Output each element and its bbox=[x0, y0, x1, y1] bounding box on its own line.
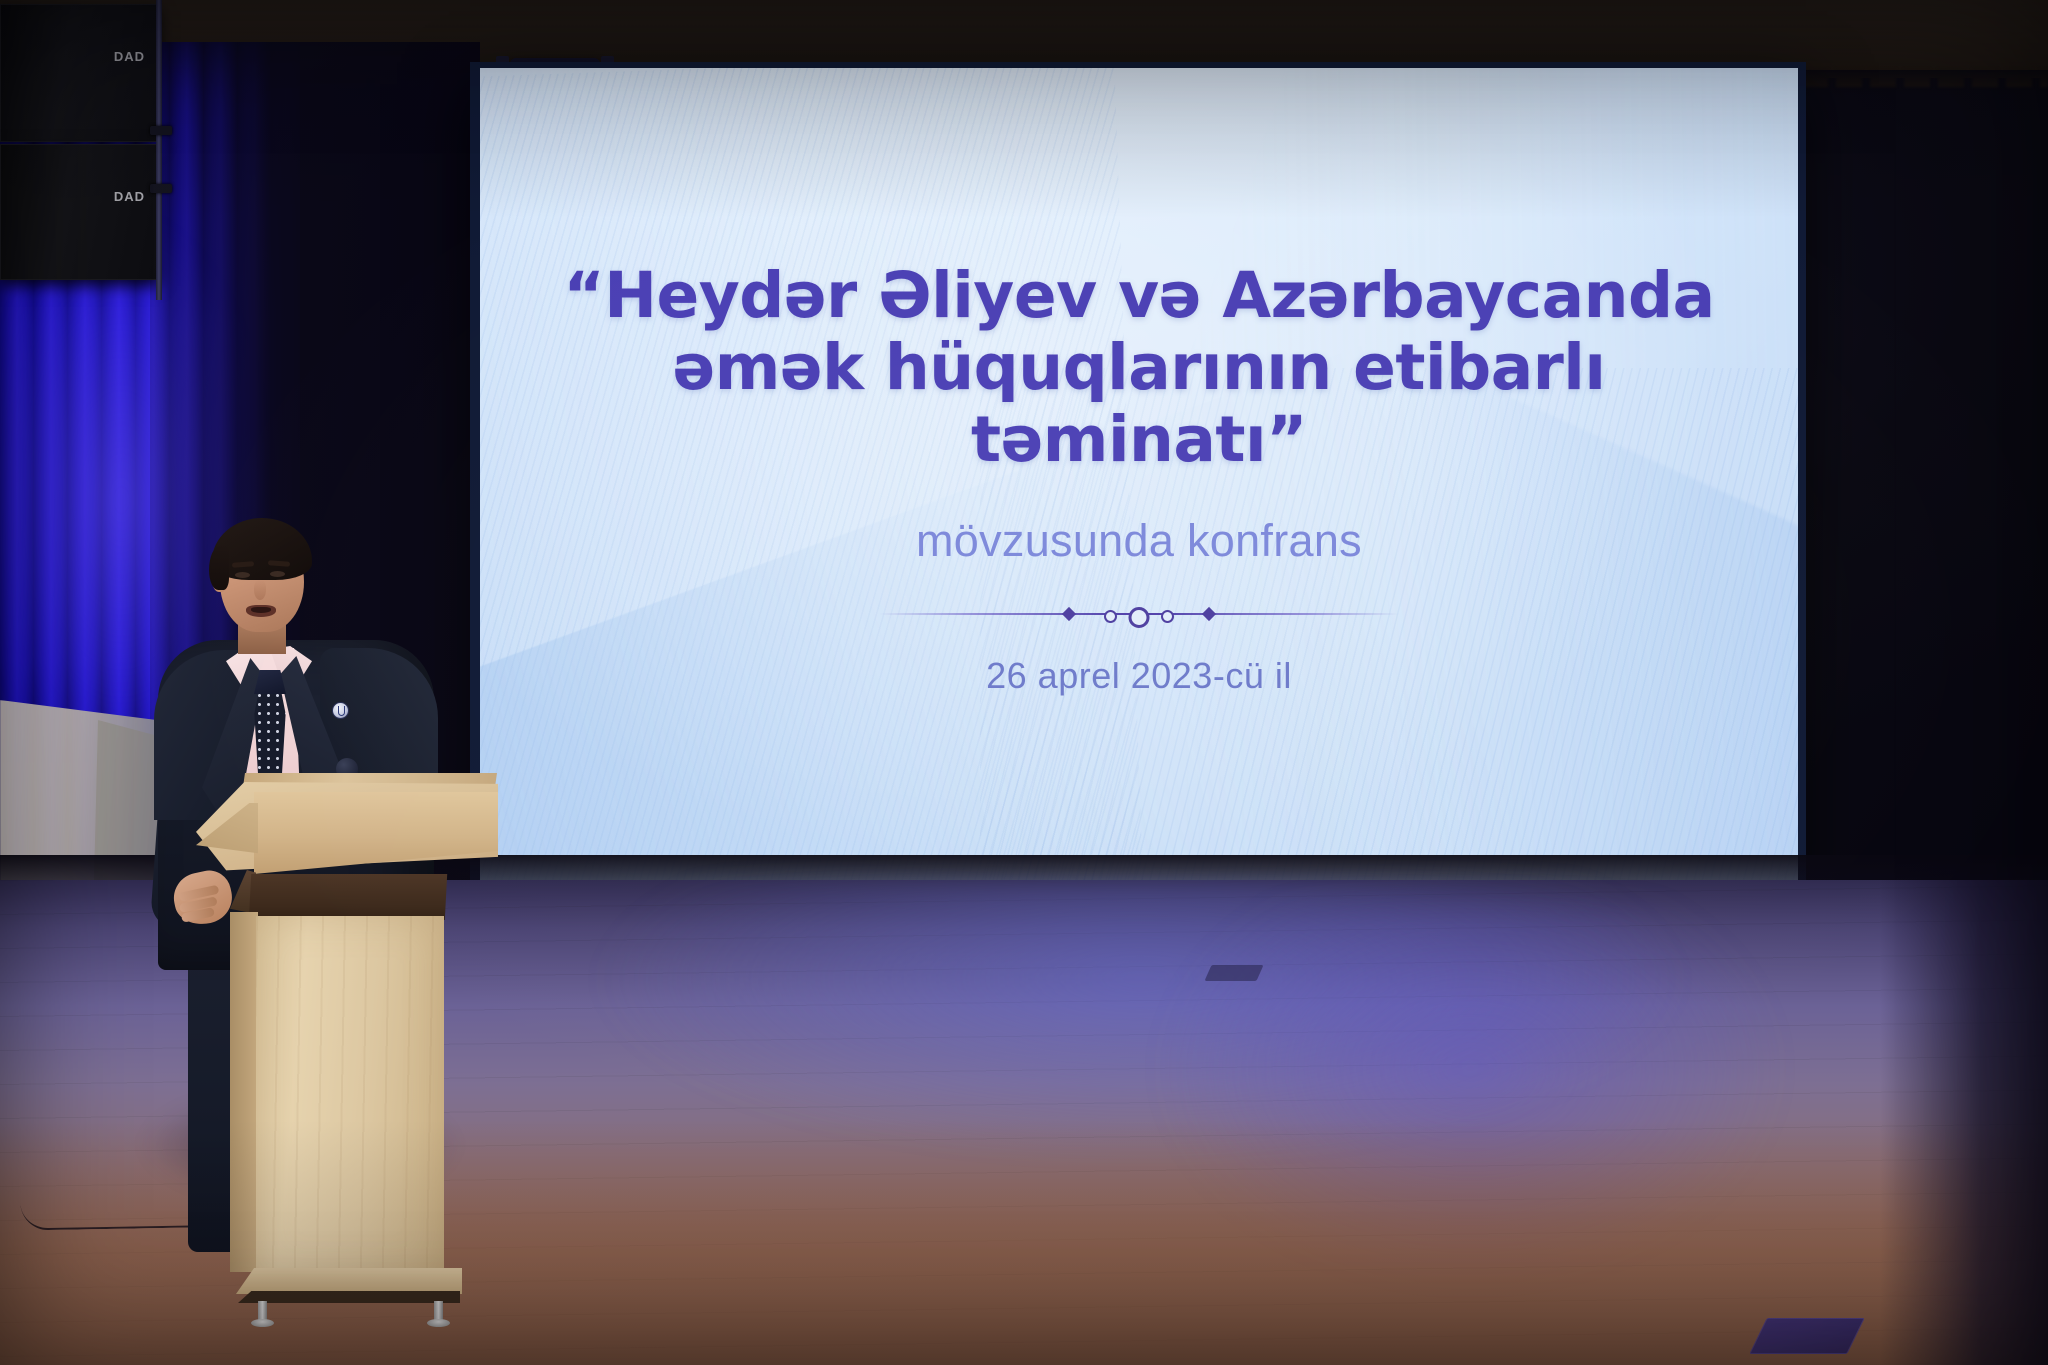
slide-date: 26 aprel 2023-cü il bbox=[986, 655, 1292, 697]
speaker-rigging-pole bbox=[156, 0, 162, 300]
lapel-pin-icon bbox=[332, 702, 349, 719]
podium-dark-band bbox=[249, 874, 447, 920]
stage-right-shadow bbox=[1880, 880, 2048, 1365]
divider-dot-left bbox=[1104, 610, 1117, 623]
stage-floor-plate bbox=[1749, 1318, 1865, 1354]
slide-subtitle: mövzusunda konfrans bbox=[916, 515, 1362, 567]
speaker-brand-label-2: DAD bbox=[114, 189, 145, 204]
divider-diamond-left bbox=[1062, 607, 1076, 621]
speaker-eye-left bbox=[235, 572, 250, 578]
stage-floor-plate-far bbox=[1204, 965, 1263, 981]
slide-content: “Heydər Əliyev və Azərbaycanda əmək hüqu… bbox=[480, 68, 1798, 886]
slide-title: “Heydər Əliyev və Azərbaycanda əmək hüqu… bbox=[549, 260, 1729, 475]
slide-ornament-divider bbox=[879, 603, 1399, 625]
speaker-cabinet-bottom: DAD bbox=[0, 144, 160, 280]
speaker-nose bbox=[254, 580, 266, 600]
slide-title-line-1: “Heydər Əliyev və Azərbaycanda bbox=[549, 260, 1729, 332]
stage-photograph: DAD DAD “Heydər Əliyev və Azərbaycanda ə… bbox=[0, 0, 2048, 1365]
speaker-brand-label: DAD bbox=[114, 49, 145, 64]
slide-title-line-2: əmək hüquqlarının etibarlı təminatı” bbox=[549, 332, 1729, 476]
projection-screen: “Heydər Əliyev və Azərbaycanda əmək hüqu… bbox=[480, 68, 1798, 886]
speaker-cabinet-top: DAD bbox=[0, 4, 160, 142]
speaker-hair-side bbox=[209, 546, 229, 590]
divider-dot-right bbox=[1161, 610, 1174, 623]
podium-desk-face bbox=[254, 792, 498, 874]
projection-screen-frame: “Heydər Əliyev və Azərbaycanda əmək hüqu… bbox=[470, 62, 1806, 892]
podium-base bbox=[236, 1268, 462, 1294]
podium bbox=[196, 770, 516, 1310]
speaker-eye-right bbox=[270, 571, 285, 577]
divider-diamond-right bbox=[1202, 607, 1216, 621]
speaker-clamp-upper bbox=[150, 126, 172, 135]
podium-base-shadow bbox=[238, 1291, 460, 1303]
podium-foot-pad-right bbox=[427, 1319, 450, 1327]
speaker-clamp-lower bbox=[150, 184, 172, 193]
divider-center-gem bbox=[1129, 607, 1150, 628]
podium-foot-pad-left bbox=[251, 1319, 274, 1327]
line-array-speaker-rig: DAD DAD bbox=[0, 0, 160, 280]
podium-column bbox=[256, 916, 444, 1276]
podium-column-side bbox=[230, 912, 258, 1272]
speaker-mouth-inner bbox=[251, 607, 271, 613]
